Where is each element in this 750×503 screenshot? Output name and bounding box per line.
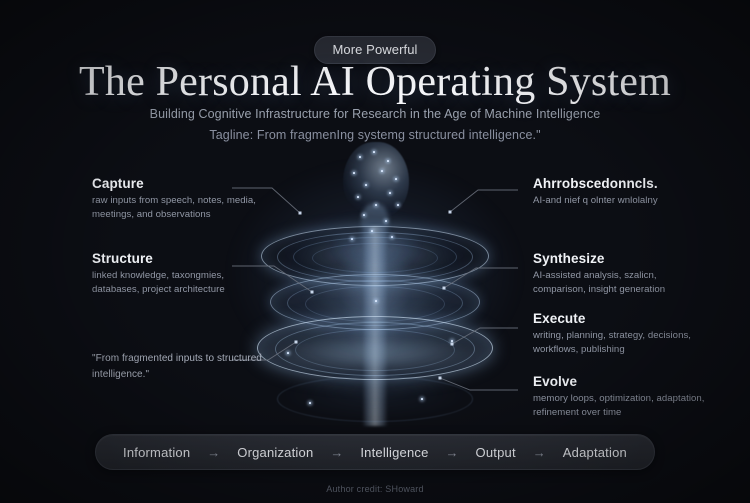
author-credit: Author credit: SHoward bbox=[0, 484, 750, 494]
label-capture: Capture raw inputs from speech, notes, m… bbox=[92, 176, 264, 222]
label-synthesize-heading: Synthesize bbox=[533, 251, 705, 266]
label-evolve: Evolve memory loops, optimization, adapt… bbox=[533, 374, 705, 420]
flow-step-organization[interactable]: Organization bbox=[237, 445, 313, 460]
subtitle-line-2: Tagline: From fragmenIng systemg structu… bbox=[0, 125, 750, 146]
poster-canvas: More Powerful The Personal AI Operating … bbox=[0, 0, 750, 503]
label-abstract: Ahrrobscedonncls. AI-and nief q olnter w… bbox=[533, 176, 705, 208]
label-execute: Execute writing, planning, strategy, dec… bbox=[533, 311, 705, 357]
label-capture-body: raw inputs from speech, notes, media, me… bbox=[92, 194, 264, 222]
flow-arrow-icon: → bbox=[207, 445, 220, 460]
label-synthesize-body: AI-assisted analysis, szalicn, compariso… bbox=[533, 269, 705, 297]
subtitle-block: Building Cognitive Infrastructure for Re… bbox=[0, 104, 750, 145]
label-abstract-body: AI-and nief q olnter wnlolalny bbox=[533, 194, 705, 208]
label-abstract-heading: Ahrrobscedonncls. bbox=[533, 176, 705, 191]
label-capture-heading: Capture bbox=[92, 176, 264, 191]
label-evolve-body: memory loops, optimization, adaptation, … bbox=[533, 392, 705, 420]
flow-arrow-icon: → bbox=[330, 445, 343, 460]
flow-arrow-icon: → bbox=[446, 445, 459, 460]
label-structure-heading: Structure bbox=[92, 251, 264, 266]
label-structure: Structure linked knowledge, taxongmies, … bbox=[92, 251, 264, 297]
subtitle-line-1: Building Cognitive Infrastructure for Re… bbox=[0, 104, 750, 125]
flow-step-output[interactable]: Output bbox=[476, 445, 516, 460]
label-execute-heading: Execute bbox=[533, 311, 705, 326]
page-title: The Personal AI Operating System bbox=[0, 58, 750, 106]
label-evolve-heading: Evolve bbox=[533, 374, 705, 389]
flow-step-adaptation[interactable]: Adaptation bbox=[563, 445, 627, 460]
label-synthesize: Synthesize AI-assisted analysis, szalicn… bbox=[533, 251, 705, 297]
label-execute-body: writing, planning, strategy, decisions, … bbox=[533, 329, 705, 357]
label-structure-body: linked knowledge, taxongmies, databases,… bbox=[92, 269, 264, 297]
label-quote: "From fragmented inputs to structured in… bbox=[92, 351, 264, 382]
flow-arrow-icon: → bbox=[533, 445, 546, 460]
flow-step-intelligence[interactable]: Intelligence bbox=[360, 445, 428, 460]
flow-step-information[interactable]: Information bbox=[123, 445, 190, 460]
process-flow-bar: Information→Organization→Intelligence→Ou… bbox=[95, 434, 655, 470]
quote-text: "From fragmented inputs to structured in… bbox=[92, 351, 264, 382]
